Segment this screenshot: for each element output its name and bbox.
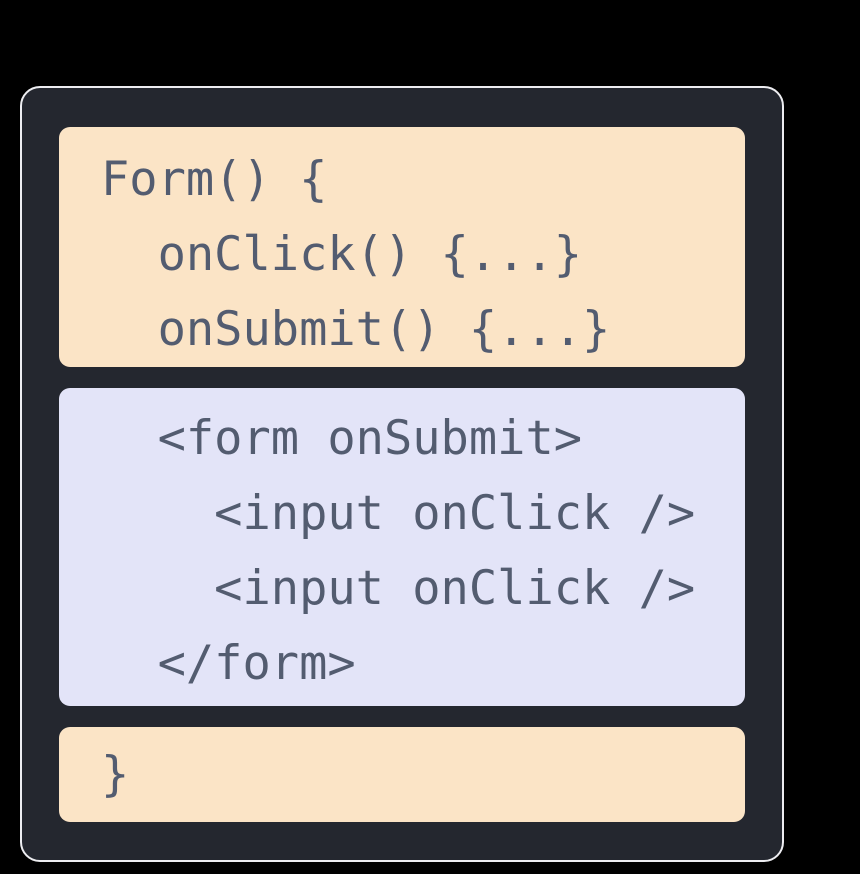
code-line: </form> [59,626,745,701]
code-line-list: Form() { onClick() {...} onSubmit() {...… [59,127,745,367]
code-line: onClick() {...} [59,217,745,292]
code-line: <input onClick /> [59,476,745,551]
screenshot-canvas: Form() { onClick() {...} onSubmit() {...… [0,0,860,874]
code-block-jsx-markup: <form onSubmit> <input onClick /> <input… [59,388,745,706]
code-line: <form onSubmit> [59,401,745,476]
code-line: <input onClick /> [59,551,745,626]
code-line: onSubmit() {...} [59,292,745,367]
code-block-component-footer: } [59,727,745,822]
code-block-component-header: Form() { onClick() {...} onSubmit() {...… [59,127,745,367]
code-line-list: <form onSubmit> <input onClick /> <input… [59,388,745,706]
component-panel: Form() { onClick() {...} onSubmit() {...… [20,86,784,862]
code-line: } [59,737,745,812]
code-line-list: } [59,727,745,822]
code-line: Form() { [59,142,745,217]
